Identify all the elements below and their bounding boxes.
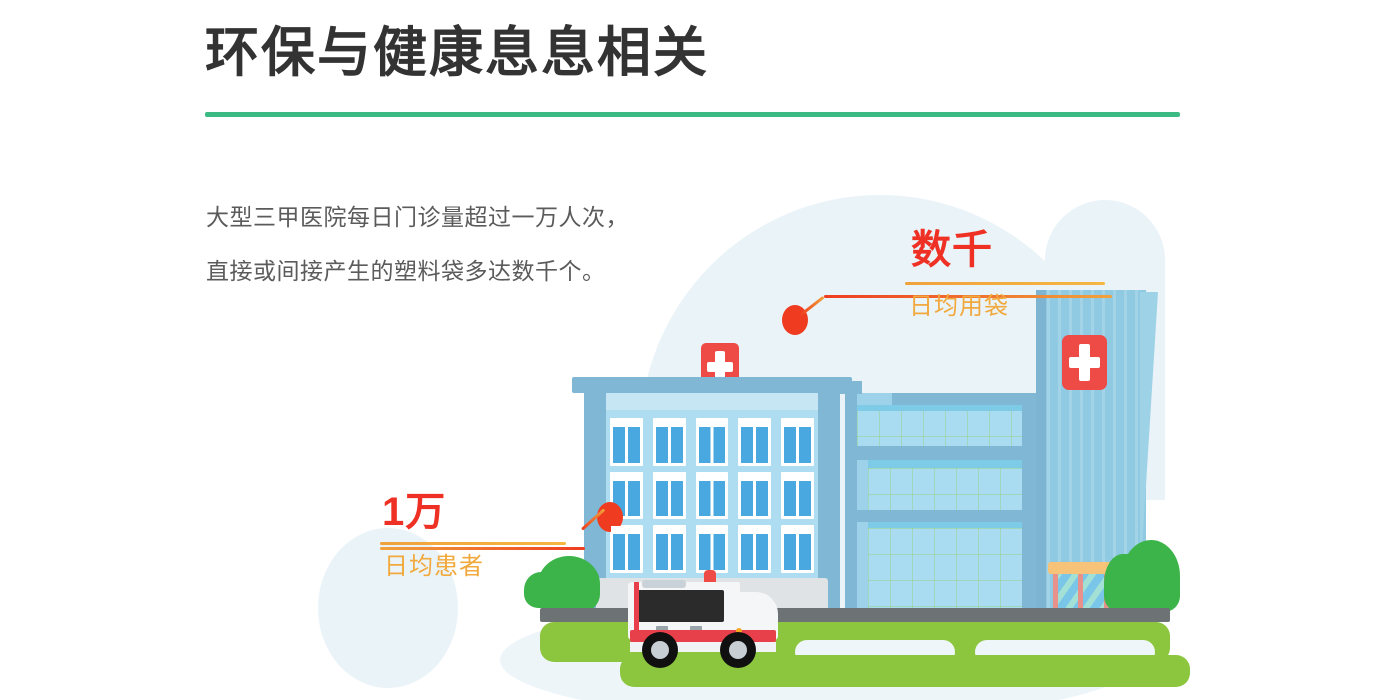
callout-right-label: 日均用袋 [909, 295, 1105, 319]
mid-building-band-2 [868, 460, 1022, 468]
window [653, 418, 686, 466]
hospital-facade-header [606, 393, 818, 410]
window [653, 525, 686, 573]
mid-building-window-band-3 [868, 528, 1022, 612]
callout-left-value: 1万 [382, 492, 566, 532]
callout-right-value: 数千 [911, 230, 1105, 270]
page-title: 环保与健康息息相关 [205, 24, 709, 83]
mid-building-window-band-2 [868, 468, 1022, 510]
window [781, 472, 814, 520]
mid-building-roof-cap [892, 393, 1036, 405]
ambulance-side-window [638, 590, 724, 622]
mid-building-left-column [845, 393, 857, 612]
mid-building-window-band-1 [857, 410, 1022, 446]
ambulance [628, 570, 778, 668]
window [781, 525, 814, 573]
mid-building-slab-1 [857, 446, 1022, 460]
callout-left-label: 日均患者 [384, 555, 566, 579]
window [696, 525, 729, 573]
tower-entrance-awning [1048, 562, 1114, 574]
window [610, 525, 643, 573]
title-underline-rule [205, 112, 1180, 117]
mid-building-right-column [1022, 393, 1036, 612]
window [738, 525, 771, 573]
ambulance-rear-wheel [720, 632, 756, 668]
window [781, 418, 814, 466]
hospital-roof-slab [572, 377, 852, 393]
tower-right-slant [1140, 292, 1158, 582]
window [653, 472, 686, 520]
cross-horizontal-bar [707, 362, 733, 372]
window [738, 418, 771, 466]
tower-left-edge [1036, 290, 1046, 612]
bush-right [1122, 540, 1180, 612]
window [738, 472, 771, 520]
callout-left: 1万 日均患者 [380, 492, 566, 579]
mid-building-band-1 [857, 405, 1022, 411]
infographic-slide: 环保与健康息息相关 大型三甲医院每日门诊量超过一万人次，直接或间接产生的塑料袋多… [0, 0, 1400, 700]
red-cross-sign-tower [1062, 335, 1107, 390]
callout-right-rule [905, 282, 1105, 285]
callout-right: 数千 日均用袋 [905, 230, 1105, 319]
window [696, 418, 729, 466]
ambulance-roof-bar [642, 580, 686, 588]
hospital-window-grid [610, 418, 814, 573]
window [696, 472, 729, 520]
window [610, 418, 643, 466]
cross-horizontal-bar [1069, 357, 1100, 368]
tower-door-mullion [1078, 574, 1083, 612]
callout-left-rule [380, 542, 566, 545]
body-paragraph: 大型三甲医院每日门诊量超过一万人次，直接或间接产生的塑料袋多达数千个。 [206, 190, 636, 298]
mid-building-slab-2 [857, 510, 1022, 522]
ambulance-front-wheel [642, 632, 678, 668]
